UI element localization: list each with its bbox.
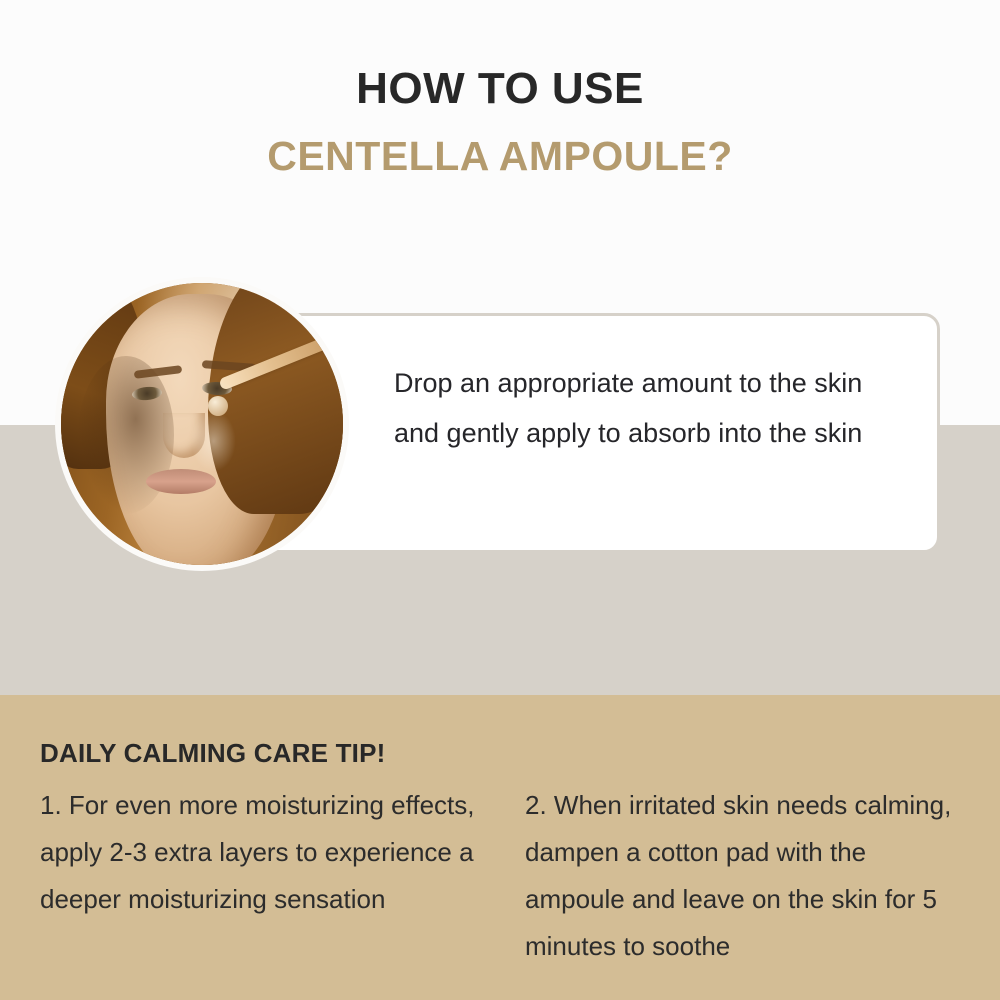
title-line-secondary: CENTELLA AMPOULE?: [0, 130, 1000, 182]
page-title: HOW TO USE CENTELLA AMPOULE?: [0, 62, 1000, 182]
title-line-primary: HOW TO USE: [0, 62, 1000, 116]
serum-drop-icon: [208, 396, 228, 416]
portrait-photo: [61, 283, 343, 565]
avatar: [55, 277, 349, 571]
hair-right: [208, 283, 343, 514]
tips-heading: DAILY CALMING CARE TIP!: [40, 738, 386, 769]
instruction-text: Drop an appropriate amount to the skin a…: [394, 358, 904, 458]
infographic-page: HOW TO USE CENTELLA AMPOULE? Drop an app…: [0, 0, 1000, 1000]
tips-columns: 1. For even more moisturizing effects, a…: [40, 782, 970, 970]
tip-item-1: 1. For even more moisturizing effects, a…: [40, 782, 485, 970]
cheek-highlight: [191, 410, 236, 472]
tip-item-2: 2. When irritated skin needs calming, da…: [525, 782, 970, 970]
